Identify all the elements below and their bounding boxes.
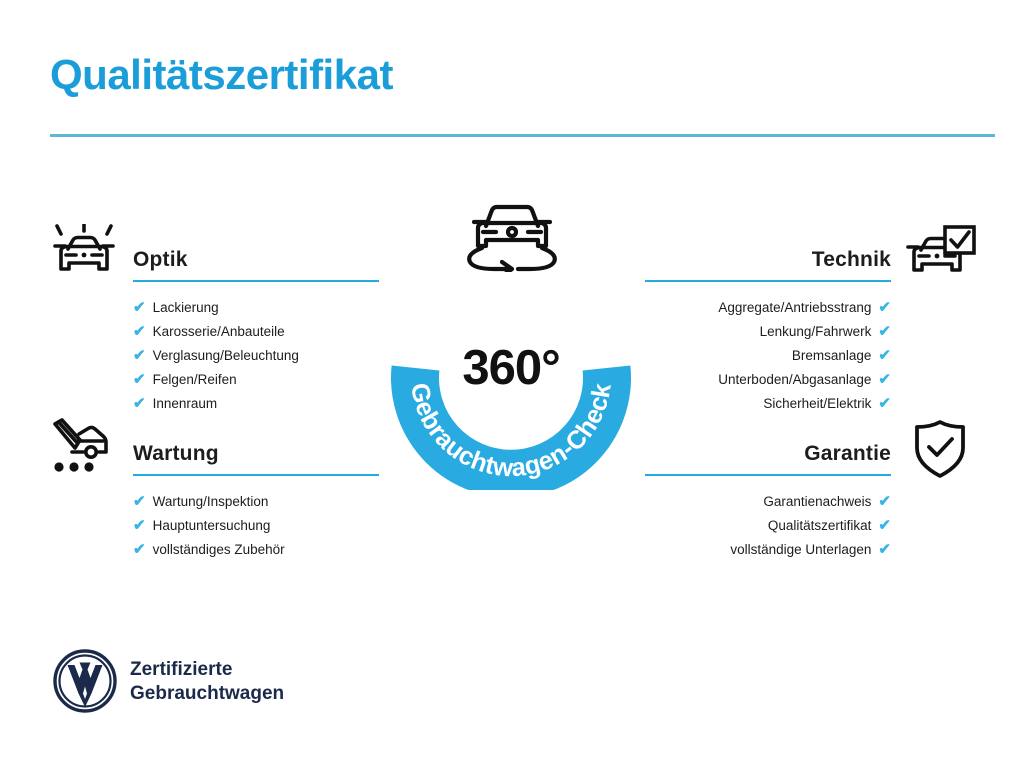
gebrauchtwagen-check-badge: Gebrauchtwagen-Check 360° <box>371 258 651 490</box>
checklist-item-label: Sicherheit/Elektrik <box>763 392 871 416</box>
section-title-garantie: Garantie <box>804 442 891 466</box>
checklist-item: ✔Innenraum <box>45 392 385 416</box>
check-icon: ✔ <box>878 494 891 509</box>
checklist-item-label: Garantienachweis <box>763 490 871 514</box>
checklist-item: ✔Unterboden/Abgasanlage <box>639 368 979 392</box>
checklist-item: ✔Karosserie/Anbauteile <box>45 320 385 344</box>
shield-check-icon <box>901 418 979 480</box>
checklist-item: ✔Verglasung/Beleuchtung <box>45 344 385 368</box>
checklist-item-label: vollständige Unterlagen <box>730 538 871 562</box>
section-divider-garantie <box>645 474 891 476</box>
shield-check-icon <box>901 418 979 480</box>
car-shine-icon <box>45 224 123 286</box>
checklist-item: ✔Aggregate/Antriebsstrang <box>639 296 979 320</box>
check-icon: ✔ <box>878 396 891 411</box>
checklist-item: ✔Hauptuntersuchung <box>45 514 385 538</box>
section-divider-optik <box>133 280 379 282</box>
check-icon: ✔ <box>133 348 146 363</box>
section-optik: Optik✔Lackierung✔Karosserie/Anbauteile✔V… <box>45 236 385 416</box>
check-icon: ✔ <box>878 372 891 387</box>
car-shine-icon <box>45 224 123 286</box>
car-pen-service-icon <box>45 418 123 480</box>
check-icon: ✔ <box>878 542 891 557</box>
checklist-item-label: Lackierung <box>153 296 219 320</box>
checklist-item-label: Unterboden/Abgasanlage <box>718 368 871 392</box>
check-icon: ✔ <box>878 300 891 315</box>
checklist-item-label: Qualitätszertifikat <box>768 514 872 538</box>
checklist-item: ✔Bremsanlage <box>639 344 979 368</box>
check-icon: ✔ <box>133 518 146 533</box>
vw-logo-icon <box>52 648 118 714</box>
checklist-item-label: Felgen/Reifen <box>153 368 237 392</box>
check-icon: ✔ <box>133 300 146 315</box>
title-divider <box>50 134 995 137</box>
checklist-garantie: ✔Garantienachweis✔Qualitätszertifikat✔vo… <box>639 490 979 562</box>
badge-value: 360° <box>371 340 651 396</box>
checklist-item: ✔vollständige Unterlagen <box>639 538 979 562</box>
section-technik: Technik✔Aggregate/Antriebsstrang✔Lenkung… <box>639 236 979 416</box>
checklist-item-label: Aggregate/Antriebsstrang <box>718 296 871 320</box>
check-icon: ✔ <box>878 518 891 533</box>
checklist-item: ✔Lenkung/Fahrwerk <box>639 320 979 344</box>
car-checkbox-icon <box>901 224 979 286</box>
check-icon: ✔ <box>133 542 146 557</box>
section-title-optik: Optik <box>133 248 188 272</box>
checklist-wartung: ✔Wartung/Inspektion✔Hauptuntersuchung✔vo… <box>45 490 385 562</box>
section-wartung: Wartung✔Wartung/Inspektion✔Hauptuntersuc… <box>45 430 385 562</box>
checklist-item: ✔Qualitätszertifikat <box>639 514 979 538</box>
checklist-item: ✔Felgen/Reifen <box>45 368 385 392</box>
checklist-item-label: Lenkung/Fahrwerk <box>760 320 872 344</box>
checklist-item-label: Bremsanlage <box>792 344 872 368</box>
check-icon: ✔ <box>878 324 891 339</box>
section-title-technik: Technik <box>812 248 891 272</box>
checklist-item: ✔Lackierung <box>45 296 385 320</box>
footer-line-1: Zertifizierte <box>130 658 284 682</box>
check-icon: ✔ <box>133 494 146 509</box>
checklist-item-label: Karosserie/Anbauteile <box>153 320 285 344</box>
vw-footer-logo: Zertifizierte Gebrauchtwagen <box>52 648 382 720</box>
checklist-item-label: Wartung/Inspektion <box>153 490 269 514</box>
checklist-item: ✔Sicherheit/Elektrik <box>639 392 979 416</box>
section-title-wartung: Wartung <box>133 442 219 466</box>
checklist-item: ✔Wartung/Inspektion <box>45 490 385 514</box>
checklist-item: ✔vollständiges Zubehör <box>45 538 385 562</box>
check-icon: ✔ <box>878 348 891 363</box>
checklist-technik: ✔Aggregate/Antriebsstrang✔Lenkung/Fahrwe… <box>639 296 979 416</box>
car-checkbox-icon <box>901 224 979 286</box>
section-divider-technik <box>645 280 891 282</box>
check-icon: ✔ <box>133 324 146 339</box>
footer-line-2: Gebrauchtwagen <box>130 682 284 706</box>
check-icon: ✔ <box>133 372 146 387</box>
check-icon: ✔ <box>133 396 146 411</box>
section-divider-wartung <box>133 474 379 476</box>
checklist-item-label: Innenraum <box>153 392 218 416</box>
checklist-item-label: Verglasung/Beleuchtung <box>153 344 299 368</box>
page-title: Qualitätszertifikat <box>50 52 393 98</box>
section-garantie: Garantie✔Garantienachweis✔Qualitätszerti… <box>639 430 979 562</box>
checklist-item-label: Hauptuntersuchung <box>153 514 271 538</box>
checklist-item-label: vollständiges Zubehör <box>153 538 285 562</box>
car-rotate-icon <box>452 200 572 272</box>
footer-wordmark: Zertifizierte Gebrauchtwagen <box>130 658 284 706</box>
car-pen-service-icon <box>45 418 123 480</box>
checklist-optik: ✔Lackierung✔Karosserie/Anbauteile✔Vergla… <box>45 296 385 416</box>
checklist-item: ✔Garantienachweis <box>639 490 979 514</box>
